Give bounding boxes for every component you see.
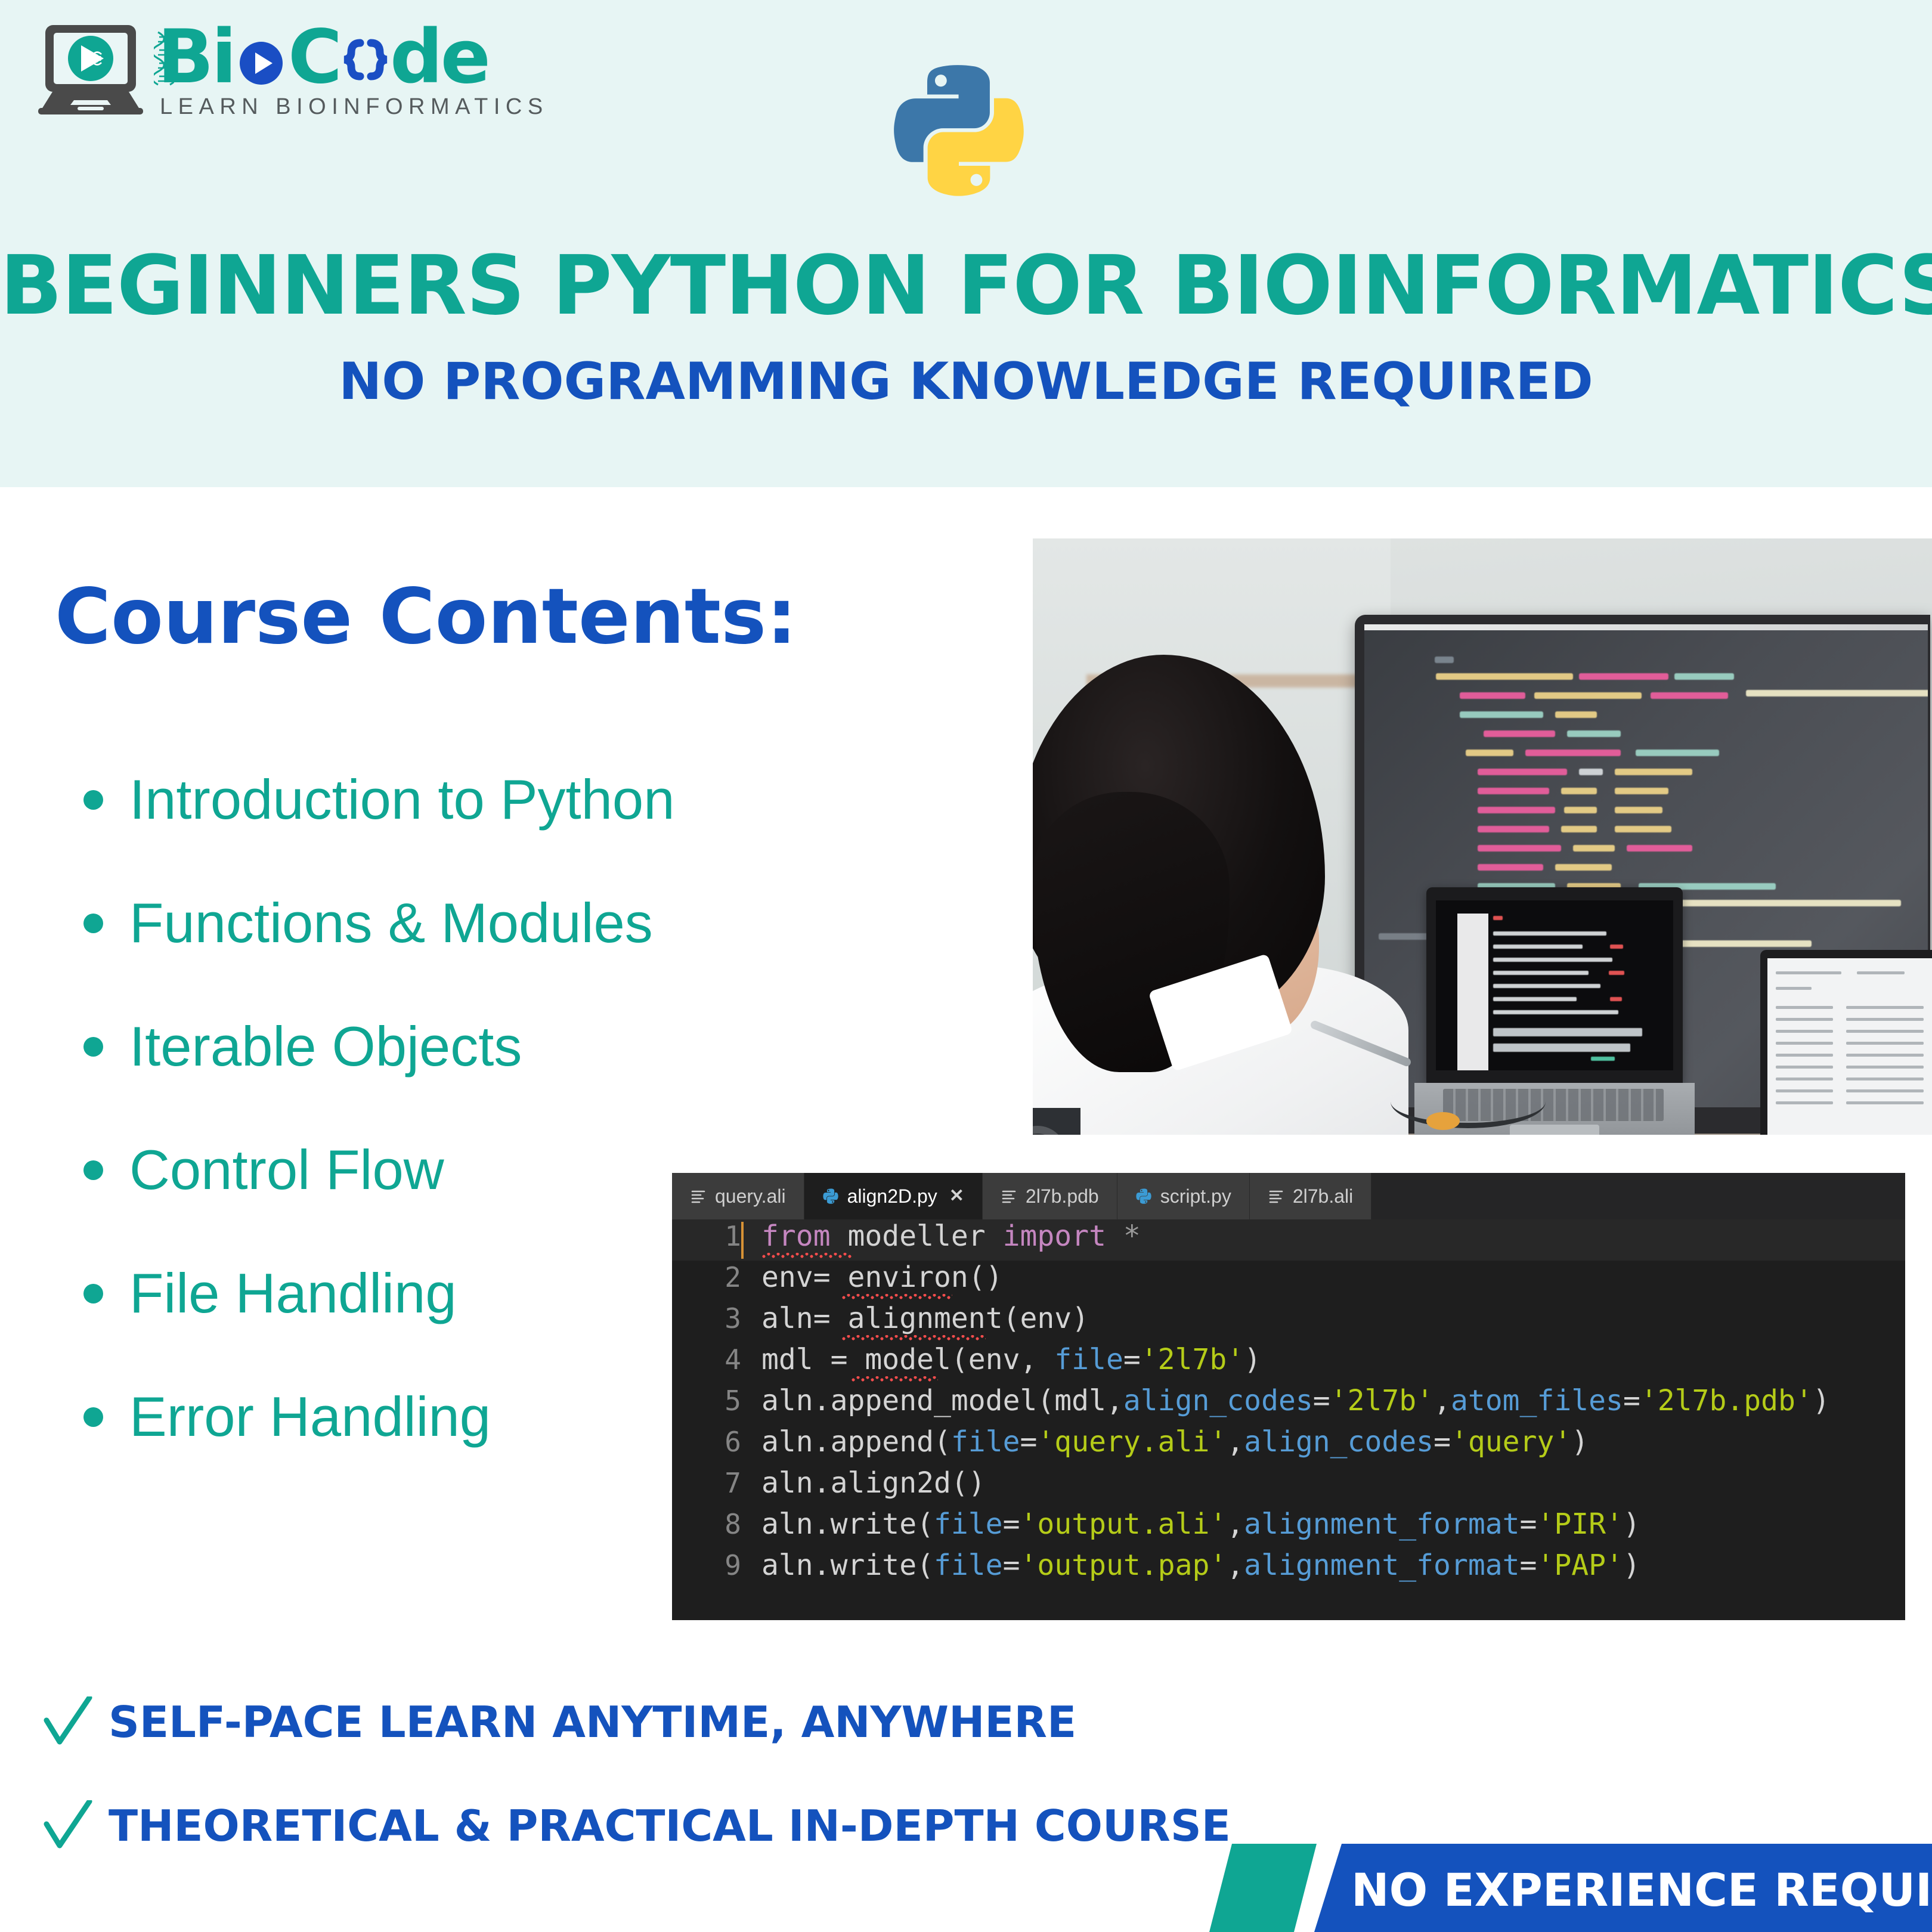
brand-name-part3: de xyxy=(390,26,488,88)
bullet-icon xyxy=(83,1037,103,1057)
bullet-icon xyxy=(83,914,103,933)
python-file-icon xyxy=(822,1188,839,1205)
brand-wordmark: Bi C de LEARN BIOINFORMATICS xyxy=(157,18,549,120)
line-content: mdl = model(env, file='2l7b') xyxy=(761,1343,1261,1376)
tab-bar-filler xyxy=(1371,1173,1905,1219)
line-content: aln.write(file='output.ali',alignment_fo… xyxy=(761,1507,1640,1541)
brand-name-part2: C xyxy=(288,26,340,88)
code-line: 6 aln.append(file='query.ali',align_code… xyxy=(672,1425,1905,1466)
tab-label: query.ali xyxy=(715,1185,786,1207)
feature-list: SELF-PACE LEARN ANYTIME, ANYWHERE THEORE… xyxy=(42,1696,1231,1904)
line-number: 7 xyxy=(672,1467,761,1499)
check-icon xyxy=(42,1696,93,1748)
tab-query-ali[interactable]: query.ali xyxy=(672,1173,804,1219)
file-lines-icon xyxy=(1001,1188,1017,1205)
feature-label: THEORETICAL & PRACTICAL IN-DEPTH COURSE xyxy=(109,1801,1231,1851)
close-icon[interactable]: ✕ xyxy=(949,1187,964,1205)
tab-2l7b-pdb[interactable]: 2l7b.pdb xyxy=(983,1173,1117,1219)
code-line: 8 aln.write(file='output.ali',alignment_… xyxy=(672,1507,1905,1549)
line-number: 5 xyxy=(672,1385,761,1417)
code-line: 9 aln.write(file='output.pap',alignment_… xyxy=(672,1549,1905,1590)
dna-helix-icon xyxy=(154,31,174,86)
page-title: BEGINNERS PYTHON FOR BIOINFORMATICS xyxy=(0,239,1932,333)
page-subtitle: NO PROGRAMMING KNOWLEDGE REQUIRED xyxy=(0,352,1932,411)
code-line: 3 aln= alignment(env) xyxy=(672,1302,1905,1343)
banner-accent-shape xyxy=(1209,1844,1317,1932)
list-item: Functions & Modules xyxy=(83,893,1014,953)
line-content: aln.align2d() xyxy=(761,1466,986,1500)
tab-align2d-py[interactable]: align2D.py ✕ xyxy=(804,1173,983,1219)
code-line: 7 aln.align2d() xyxy=(672,1466,1905,1507)
photo-tablet xyxy=(1760,950,1932,1135)
play-circle-icon xyxy=(236,33,287,85)
line-number: 8 xyxy=(672,1508,761,1540)
hero-photo xyxy=(1033,538,1932,1135)
line-content: aln.append(file='query.ali',align_codes=… xyxy=(761,1425,1589,1459)
code-area[interactable]: 1 from modeller import * 2 env= environ(… xyxy=(672,1219,1905,1620)
banner-label: NO EXPERIENCE REQUIRED xyxy=(1351,1863,1932,1916)
code-line: 1 from modeller import * xyxy=(672,1219,1905,1261)
editor-tab-bar: query.ali align2D.py ✕ 2l7b.pdb xyxy=(672,1173,1905,1219)
line-content: env= environ() xyxy=(761,1261,1003,1294)
line-content: aln= alignment(env) xyxy=(761,1302,1089,1335)
course-contents-heading: Course Contents: xyxy=(55,572,797,661)
bullet-icon xyxy=(83,790,103,810)
line-number: 9 xyxy=(672,1549,761,1581)
tab-label: align2D.py xyxy=(847,1185,937,1207)
feature-item: THEORETICAL & PRACTICAL IN-DEPTH COURSE xyxy=(42,1800,1231,1851)
header-band: Bi C de LEARN BIOINFORMATICS BEGINNERS P… xyxy=(0,0,1932,487)
tab-2l7b-ali[interactable]: 2l7b.ali xyxy=(1250,1173,1371,1219)
list-item-label: File Handling xyxy=(129,1263,457,1324)
list-item-label: Control Flow xyxy=(129,1140,444,1200)
bottom-banner: NO EXPERIENCE REQUIRED xyxy=(1209,1844,1932,1932)
list-item-label: Iterable Objects xyxy=(129,1016,522,1077)
brand-logo[interactable]: Bi C de LEARN BIOINFORMATICS xyxy=(37,16,549,120)
check-icon xyxy=(42,1800,93,1851)
code-line: 4 mdl = model(env, file='2l7b') xyxy=(672,1343,1905,1384)
list-item: Iterable Objects xyxy=(83,1016,1014,1077)
file-lines-icon xyxy=(690,1188,707,1205)
python-logo-icon xyxy=(887,57,1031,203)
list-item-label: Introduction to Python xyxy=(129,769,674,830)
line-number: 6 xyxy=(672,1426,761,1458)
tab-script-py[interactable]: script.py xyxy=(1117,1173,1250,1219)
feature-label: SELF-PACE LEARN ANYTIME, ANYWHERE xyxy=(109,1697,1076,1747)
python-file-icon xyxy=(1135,1188,1152,1205)
line-number: 1 xyxy=(672,1220,761,1252)
text-caret xyxy=(741,1222,744,1259)
line-number: 2 xyxy=(672,1261,761,1293)
tab-label: 2l7b.pdb xyxy=(1026,1185,1099,1207)
bullet-icon xyxy=(83,1284,103,1304)
file-lines-icon xyxy=(1268,1188,1284,1205)
list-item-label: Error Handling xyxy=(129,1386,491,1447)
photo-person xyxy=(1033,655,1408,1135)
code-line: 5 aln.append_model(mdl,align_codes='2l7b… xyxy=(672,1384,1905,1425)
code-editor[interactable]: query.ali align2D.py ✕ 2l7b.pdb xyxy=(672,1173,1905,1620)
line-content: aln.write(file='output.pap',alignment_fo… xyxy=(761,1549,1640,1582)
line-content: from modeller import * xyxy=(761,1219,1141,1253)
laptop-play-dna-icon xyxy=(37,16,144,118)
line-content: aln.append_model(mdl,align_codes='2l7b',… xyxy=(761,1384,1830,1417)
curly-braces-icon xyxy=(340,33,389,85)
tab-label: 2l7b.ali xyxy=(1293,1185,1353,1207)
list-item: Introduction to Python xyxy=(83,769,1014,830)
code-line: 2 env= environ() xyxy=(672,1261,1905,1302)
bullet-icon xyxy=(83,1407,103,1427)
line-number: 4 xyxy=(672,1343,761,1376)
line-number: 3 xyxy=(672,1302,761,1335)
bullet-icon xyxy=(83,1160,103,1180)
tab-label: script.py xyxy=(1160,1185,1231,1207)
feature-item: SELF-PACE LEARN ANYTIME, ANYWHERE xyxy=(42,1696,1231,1748)
list-item-label: Functions & Modules xyxy=(129,893,653,953)
